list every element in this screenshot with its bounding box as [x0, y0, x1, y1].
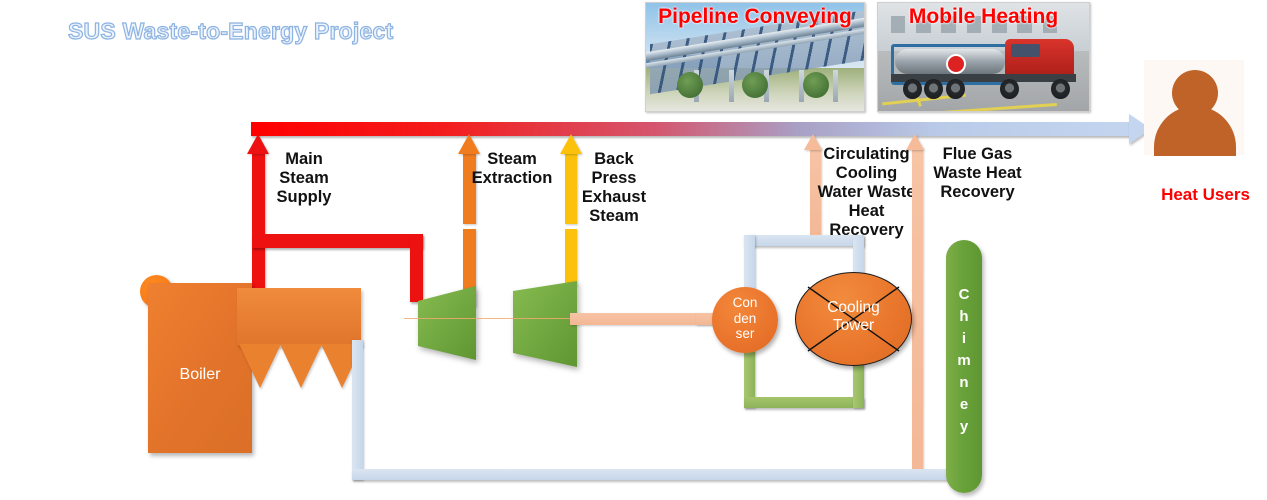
flue-duct-vertical: [352, 340, 363, 480]
turbine-high-pressure[interactable]: [418, 286, 482, 360]
label-circulating-cooling-water: Circulating Cooling Water Waste Heat Rec…: [808, 145, 925, 240]
cooling-water-return-top: [744, 235, 864, 246]
photo-caption: Pipeline Conveying: [646, 5, 864, 29]
boiler-flame-tooth: [280, 344, 322, 388]
condenser-label: Con den ser: [712, 295, 778, 342]
cooling-water-supply-bottom: [744, 397, 864, 408]
cooling-tower-label: Cooling Tower: [796, 299, 911, 335]
back-press-shaft-lower: [565, 229, 577, 286]
flue-gas-recovery-shaft: [912, 148, 923, 478]
label-main-steam-supply: Main Steam Supply: [262, 150, 346, 207]
diagram-canvas: SUS Waste-to-Energy Project Pipeline Con…: [0, 0, 1267, 500]
boiler-grate: [237, 288, 361, 345]
label-flue-gas-waste-heat-recovery: Flue Gas Waste Heat Recovery: [925, 145, 1030, 202]
cooling-tower[interactable]: Cooling Tower: [795, 272, 912, 366]
photo-caption: Mobile Heating: [878, 5, 1089, 29]
main-steam-branch: [252, 234, 423, 248]
label-steam-extraction: Steam Extraction: [462, 150, 562, 188]
page-title: SUS Waste-to-Energy Project: [68, 18, 393, 45]
chimney-label: C h i m n e y: [946, 284, 982, 438]
boiler-flame-tooth: [239, 344, 281, 388]
main-heat-supply-arrow: [251, 122, 1135, 136]
turbine-shaft-axis: [404, 318, 584, 319]
heat-users-label: Heat Users: [1143, 185, 1267, 205]
photo-pipeline-conveying: Pipeline Conveying: [645, 2, 865, 112]
chimney[interactable]: C h i m n e y: [946, 240, 982, 493]
flue-duct-horizontal: [352, 469, 957, 480]
condenser[interactable]: Con den ser: [712, 287, 778, 353]
label-back-press-exhaust-steam: Back Press Exhaust Steam: [573, 150, 655, 226]
photo-mobile-heating: Mobile Heating: [877, 2, 1090, 112]
flue-gas-recovery-arrow-head: [906, 134, 924, 150]
boiler-label: Boiler: [148, 366, 252, 384]
